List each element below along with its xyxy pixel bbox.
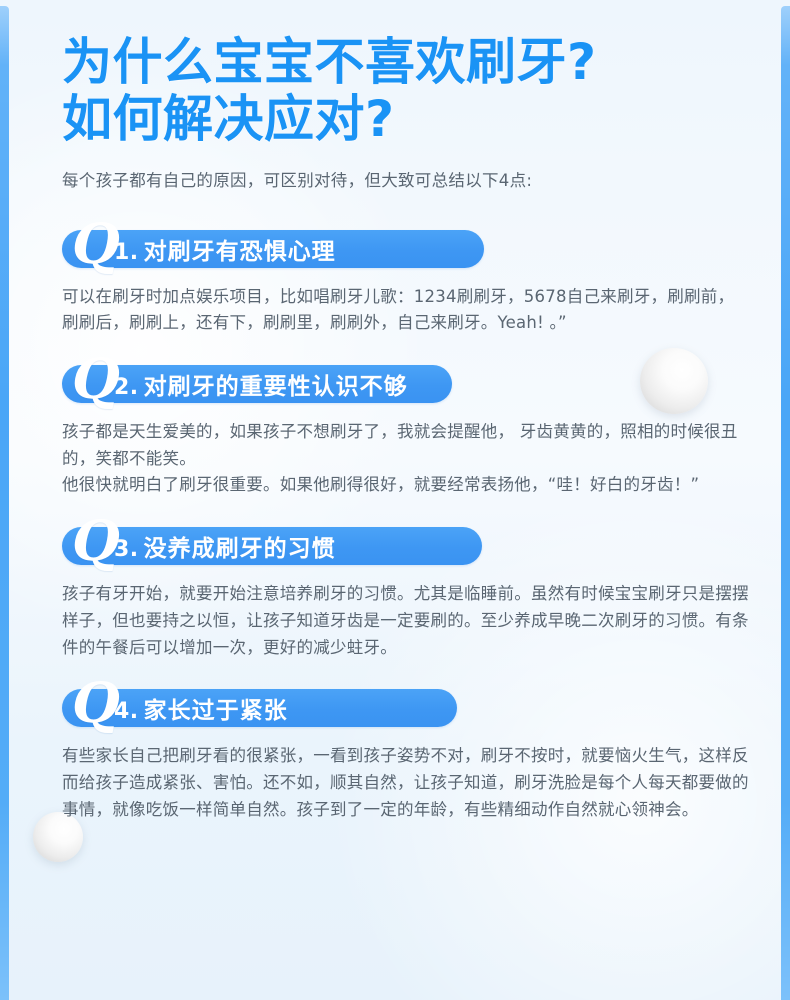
qa-title-1: 对刷牙有恐惧心理: [144, 232, 336, 266]
qa-badge-pill-1: 1. 对刷牙有恐惧心理: [62, 230, 484, 268]
qa-body-1: 可以在刷牙时加点娱乐项目，比如唱刷牙儿歌：1234刷刷牙，5678自己来刷牙，刷…: [62, 284, 750, 337]
q-letter-icon-2: Q: [72, 351, 120, 406]
qa-title-2: 对刷牙的重要性认识不够: [144, 367, 408, 401]
qa-title-4: 家长过于紧张: [144, 691, 288, 725]
qa-body-3: 孩子有牙开始，就要开始注意培养刷牙的习惯。尤其是临睡前。虽然有时候宝宝刷牙只是摆…: [62, 581, 750, 661]
qa-badge-4: 4. 家长过于紧张 Q: [62, 689, 750, 727]
page-title: 为什么宝宝不喜欢刷牙? 如何解决应对?: [62, 0, 750, 148]
qa-title-3: 没养成刷牙的习惯: [144, 529, 336, 563]
qa-section-3: 3. 没养成刷牙的习惯 Q 孩子有牙开始，就要开始注意培养刷牙的习惯。尤其是临睡…: [62, 527, 750, 661]
q-letter-icon-1: Q: [72, 216, 120, 271]
intro-paragraph: 每个孩子都有自己的原因，可区别对待，但大致可总结以下4点:: [62, 168, 750, 194]
qa-section-2: 2. 对刷牙的重要性认识不够 Q 孩子都是天生爱美的，如果孩子不想刷牙了，我就会…: [62, 365, 750, 499]
qa-badge-pill-4: 4. 家长过于紧张: [62, 689, 457, 727]
qa-badge-pill-3: 3. 没养成刷牙的习惯: [62, 527, 482, 565]
qa-body-2: 孩子都是天生爱美的，如果孩子不想刷牙了，我就会提醒他， 牙齿黄黄的，照相的时候很…: [62, 419, 750, 499]
qa-badge-pill-2: 2. 对刷牙的重要性认识不够: [62, 365, 452, 403]
page-title-line-1: 为什么宝宝不喜欢刷牙?: [62, 34, 750, 91]
qa-badge-2: 2. 对刷牙的重要性认识不够 Q: [62, 365, 750, 403]
infographic-page: 为什么宝宝不喜欢刷牙? 如何解决应对? 每个孩子都有自己的原因，可区别对待，但大…: [0, 0, 790, 1000]
qa-badge-1: 1. 对刷牙有恐惧心理 Q: [62, 230, 750, 268]
qa-section-4: 4. 家长过于紧张 Q 有些家长自己把刷牙看的很紧张，一看到孩子姿势不对，刷牙不…: [62, 689, 750, 823]
qa-badge-3: 3. 没养成刷牙的习惯 Q: [62, 527, 750, 565]
qa-section-1: 1. 对刷牙有恐惧心理 Q 可以在刷牙时加点娱乐项目，比如唱刷牙儿歌：1234刷…: [62, 230, 750, 337]
q-letter-icon-3: Q: [72, 513, 120, 568]
qa-body-4: 有些家长自己把刷牙看的很紧张，一看到孩子姿势不对，刷牙不按时，就要恼火生气，这样…: [62, 743, 750, 823]
content-column: 为什么宝宝不喜欢刷牙? 如何解决应对? 每个孩子都有自己的原因，可区别对待，但大…: [0, 0, 790, 823]
page-title-line-2: 如何解决应对?: [62, 91, 750, 148]
q-letter-icon-4: Q: [72, 675, 120, 730]
